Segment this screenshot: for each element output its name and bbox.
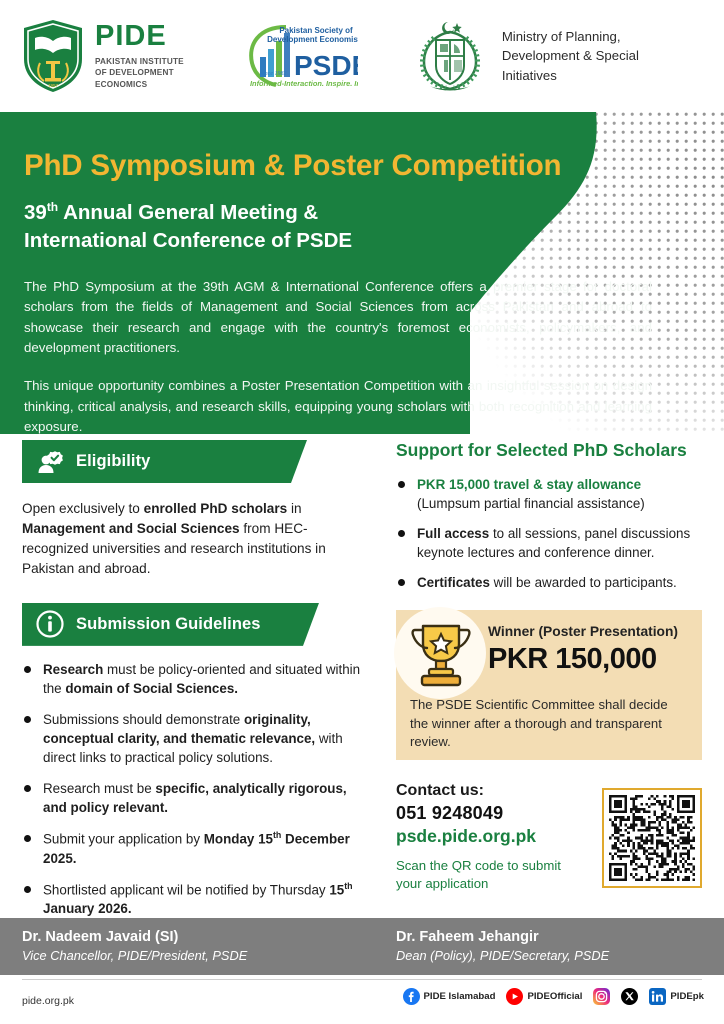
signature-strip: Dr. Nadeem Javaid (SI) Vice Chancellor, …	[0, 918, 724, 975]
signatory-1-role: Vice Chancellor, PIDE/President, PSDE	[22, 948, 247, 965]
list-item: Research must be policy-oriented and sit…	[22, 660, 374, 698]
signatory-2-name: Dr. Faheem Jehangir	[396, 928, 609, 946]
list-item: PKR 15,000 travel & stay allowance (Lump…	[396, 475, 702, 513]
social-link[interactable]: PIDEOfficial	[506, 988, 582, 1005]
qr-code-image	[609, 795, 695, 881]
list-item: Shortlisted applicant wil be notified by…	[22, 880, 374, 919]
submission-heading-ribbon: Submission Guidelines	[22, 603, 319, 646]
text-run: 15	[329, 882, 344, 897]
submission-guidelines-list: Research must be policy-oriented and sit…	[22, 660, 374, 918]
eligibility-body: Open exclusively to enrolled PhD scholar…	[22, 499, 352, 579]
contact-details: Contact us: 051 9248049 psde.pide.org.pk…	[396, 782, 576, 893]
text-run: Full access	[417, 526, 489, 541]
hero-subtitle: 39th Annual General Meeting & Internatio…	[24, 199, 544, 254]
left-column: Eligibility Open exclusively to enrolled…	[22, 440, 374, 930]
pide-logo: 1957 PIDE PAKISTAN INSTITUTE OF DEVELOPM…	[22, 19, 184, 93]
contact-section: Contact us: 051 9248049 psde.pide.org.pk…	[396, 782, 702, 900]
hero-content: PhD Symposium & Poster Competition 39th …	[0, 112, 680, 434]
list-item: Submissions should demonstrate originali…	[22, 710, 374, 767]
ministry-logo: Ministry of Planning, Development & Spec…	[410, 16, 639, 96]
text-run: Monday 15	[204, 832, 273, 847]
social-label: PIDE Islamabad	[424, 991, 496, 1002]
text-run: th	[344, 881, 352, 891]
signatory-1: Dr. Nadeem Javaid (SI) Vice Chancellor, …	[22, 928, 247, 965]
qr-code[interactable]	[602, 788, 702, 888]
text-run: Research	[43, 662, 103, 677]
contact-phone[interactable]: 051 9248049	[396, 803, 576, 824]
support-list: PKR 15,000 travel & stay allowance (Lump…	[396, 475, 702, 592]
text-run: Shortlisted applicant wil be notified by…	[43, 882, 329, 897]
pide-logo-text: PIDE PAKISTAN INSTITUTE OF DEVELOPMENT E…	[95, 22, 184, 90]
hero-subtitle-ordinal: th	[47, 201, 58, 215]
prize-note: The PSDE Scientific Committee shall deci…	[410, 696, 688, 752]
signatory-2-role: Dean (Policy), PIDE/Secretary, PSDE	[396, 948, 609, 965]
footer-divider	[22, 979, 702, 980]
text-run: PKR 15,000 travel & stay allowance	[417, 477, 641, 492]
social-links: PIDE IslamabadPIDEOfficialPIDEpk	[392, 988, 705, 1005]
text-run: January 2026.	[43, 901, 132, 916]
social-link[interactable]: PIDEpk	[649, 988, 704, 1005]
text-run: will be awarded to participants.	[490, 575, 677, 590]
linkedin-icon	[649, 988, 666, 1005]
signatory-2: Dr. Faheem Jehangir Dean (Policy), PIDE/…	[396, 928, 609, 965]
prize-head: Winner (Poster Presentation) PKR 150,000	[488, 624, 694, 676]
psde-bar-chart-logo-icon: Pakistan Society of Development Economis…	[246, 23, 358, 89]
contact-website-link[interactable]: psde.pide.org.pk	[396, 826, 576, 847]
text-run: Submissions should demonstrate	[43, 712, 244, 727]
pide-wordmark: PIDE	[95, 22, 184, 51]
hero-subtitle-number: 39	[24, 201, 47, 224]
facebook-icon	[403, 988, 420, 1005]
trophy-icon	[410, 620, 472, 688]
text-run: enrolled PhD scholars	[144, 501, 288, 516]
prize-card: Winner (Poster Presentation) PKR 150,000…	[396, 610, 702, 760]
right-column: Support for Selected PhD Scholars PKR 15…	[396, 440, 702, 900]
psde-logo: Pakistan Society of Development Economis…	[246, 23, 358, 89]
logo-bar: 1957 PIDE PAKISTAN INSTITUTE OF DEVELOPM…	[0, 0, 724, 112]
ministry-logo-text: Ministry of Planning, Development & Spec…	[502, 27, 639, 84]
svg-text:PSDE: PSDE	[294, 50, 358, 81]
text-run: Certificates	[417, 575, 490, 590]
social-label: PIDEpk	[670, 991, 704, 1002]
info-circle-icon	[36, 610, 64, 638]
footer-website[interactable]: pide.org.pk	[22, 995, 74, 1007]
social-link[interactable]	[621, 988, 638, 1005]
instagram-icon	[593, 988, 610, 1005]
hero-banner: PhD Symposium & Poster Competition 39th …	[0, 112, 724, 434]
text-run: (Lumpsum partial financial assistance)	[417, 496, 645, 511]
youtube-icon	[506, 988, 523, 1005]
pide-subtitle: PAKISTAN INSTITUTE OF DEVELOPMENT ECONOM…	[95, 56, 184, 90]
svg-text:1957: 1957	[48, 83, 59, 88]
poster-root: 1957 PIDE PAKISTAN INSTITUTE OF DEVELOPM…	[0, 0, 724, 1024]
text-run: domain of Social Sciences.	[65, 681, 238, 696]
svg-text:Pakistan Society of: Pakistan Society of	[279, 26, 353, 35]
text-run: Management and Social Sciences	[22, 521, 240, 536]
social-link[interactable]	[593, 988, 610, 1005]
eligibility-heading-ribbon: Eligibility	[22, 440, 307, 483]
pide-shield-logo-icon: 1957	[22, 19, 84, 93]
verified-person-icon	[36, 448, 64, 476]
hero-paragraph-1: The PhD Symposium at the 39th AGM & Inte…	[24, 277, 652, 358]
contact-label: Contact us:	[396, 782, 576, 800]
list-item: Full access to all sessions, panel discu…	[396, 524, 702, 562]
eligibility-heading-label: Eligibility	[76, 452, 150, 471]
social-link[interactable]: PIDE Islamabad	[403, 988, 496, 1005]
x-twitter-icon	[621, 988, 638, 1005]
text-run: Open exclusively to	[22, 501, 144, 516]
social-label: PIDEOfficial	[527, 991, 582, 1002]
text-run: Research must be	[43, 781, 155, 796]
support-heading: Support for Selected PhD Scholars	[396, 440, 702, 461]
footer: pide.org.pk PIDE IslamabadPIDEOfficialPI…	[0, 975, 724, 1024]
content-columns: Eligibility Open exclusively to enrolled…	[0, 440, 724, 918]
list-item: Research must be specific, analytically …	[22, 779, 374, 817]
contact-scan-text: Scan the QR code to submit your applicat…	[396, 857, 576, 893]
pakistan-state-emblem-icon	[410, 16, 490, 96]
hero-title: PhD Symposium & Poster Competition	[24, 150, 680, 182]
svg-text:Since 1982: Since 1982	[260, 71, 287, 77]
svg-text:Informed-Interaction. Inspire.: Informed-Interaction. Inspire. Impact.	[250, 79, 358, 88]
text-run: in	[287, 501, 301, 516]
hero-subtitle-line2: International Conference of PSDE	[24, 229, 352, 252]
hero-paragraph-2: This unique opportunity combines a Poste…	[24, 376, 652, 434]
submission-heading-label: Submission Guidelines	[76, 615, 261, 634]
signatory-1-name: Dr. Nadeem Javaid (SI)	[22, 928, 247, 946]
prize-label: Winner (Poster Presentation)	[488, 624, 694, 641]
list-item: Submit your application by Monday 15th D…	[22, 829, 374, 868]
text-run: Submit your application by	[43, 832, 204, 847]
hero-subtitle-rest: Annual General Meeting &	[58, 201, 318, 224]
list-item: Certificates will be awarded to particip…	[396, 573, 702, 592]
prize-amount: PKR 150,000	[488, 643, 694, 676]
svg-text:Development Economists: Development Economists	[267, 35, 358, 44]
